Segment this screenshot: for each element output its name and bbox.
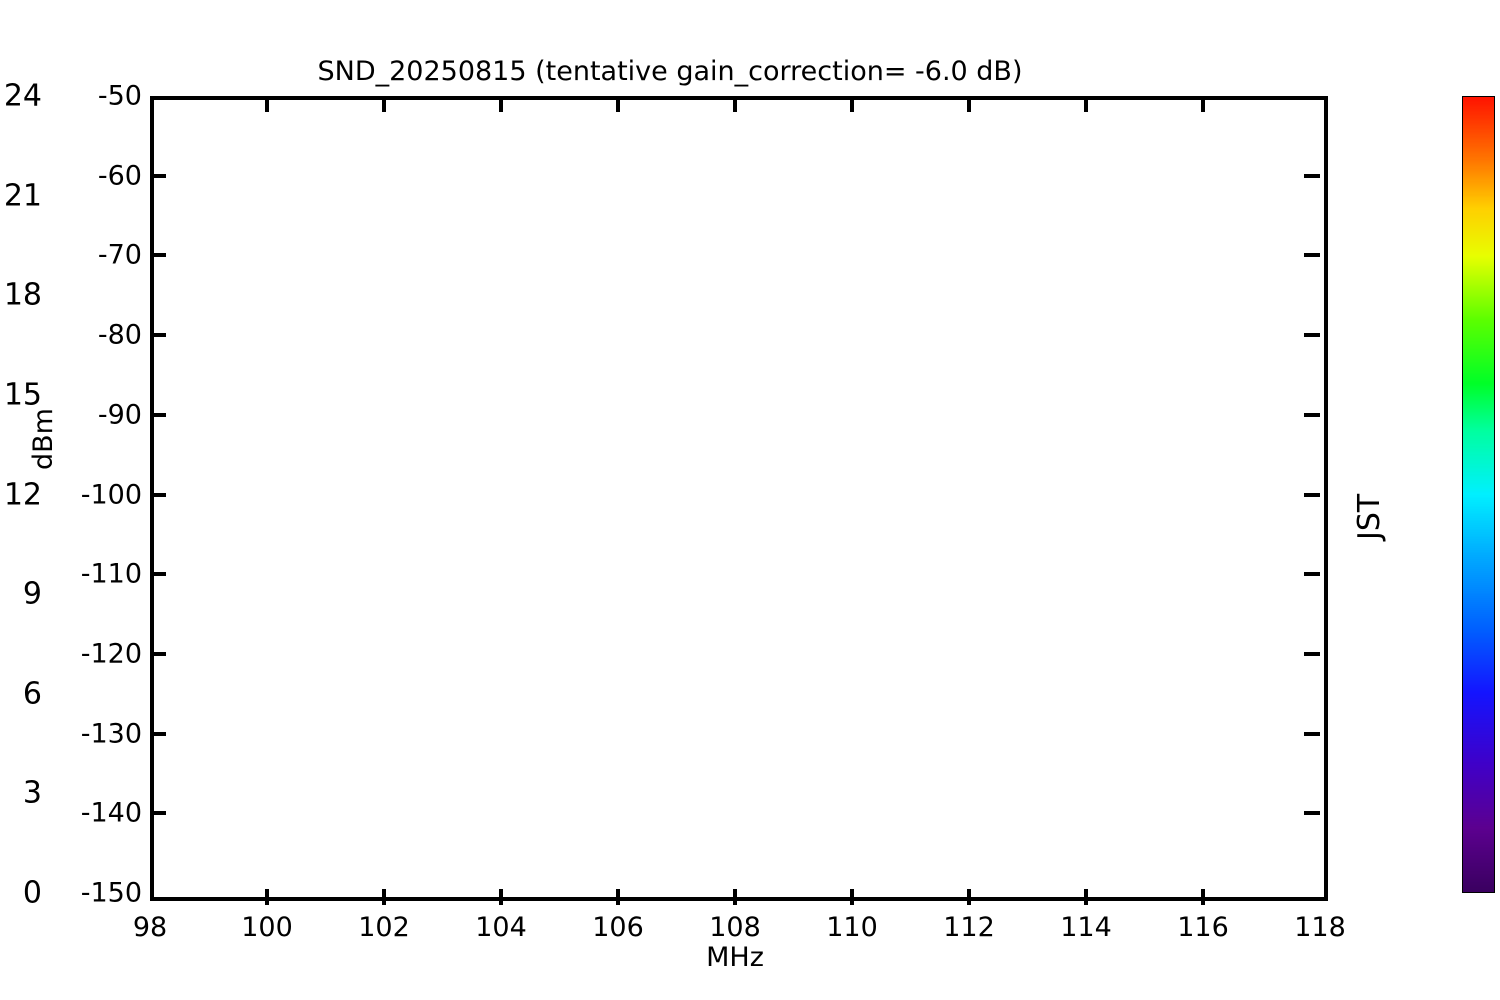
x-tick-label: 116 <box>1177 912 1229 943</box>
x-tick-bottom <box>733 889 737 905</box>
y-tick-label: -90 <box>98 399 142 430</box>
y-tick-left <box>150 572 166 576</box>
x-tick-top <box>1201 96 1205 112</box>
x-tick-label: 110 <box>826 912 878 943</box>
x-tick-label: 108 <box>709 912 761 943</box>
x-tick-label: 100 <box>241 912 293 943</box>
y-tick-left <box>150 493 166 497</box>
y-tick-label: -60 <box>98 160 142 191</box>
colorbar-tick-label: 15 <box>0 377 42 412</box>
x-tick-label: 118 <box>1294 912 1346 943</box>
x-tick-bottom <box>967 889 971 905</box>
page-title: SND_20250815 (tentative gain_correction=… <box>0 56 1340 87</box>
y-tick-label: -120 <box>81 638 142 669</box>
y-tick-label: -100 <box>81 479 142 510</box>
x-tick-bottom <box>1084 889 1088 905</box>
y-tick-label: -80 <box>98 320 142 351</box>
y-tick-label: -50 <box>98 81 142 112</box>
y-tick-label: -130 <box>81 718 142 749</box>
y-tick-right <box>1304 174 1320 178</box>
y-tick-label: -110 <box>81 559 142 590</box>
y-tick-right <box>1304 811 1320 815</box>
colorbar-tick-label: 3 <box>0 776 42 811</box>
x-tick-label: 106 <box>592 912 644 943</box>
y-tick-label: -150 <box>81 878 142 909</box>
y-tick-right <box>1304 333 1320 337</box>
colorbar-tick-label: 12 <box>0 477 42 512</box>
colorbar <box>1462 96 1495 893</box>
y-tick-label: -70 <box>98 240 142 271</box>
y-tick-right <box>1304 413 1320 417</box>
y-tick-right <box>1304 493 1320 497</box>
y-tick-label: -140 <box>81 798 142 829</box>
y-axis-title: dBm <box>28 408 59 470</box>
y-tick-left <box>150 811 166 815</box>
x-tick-top <box>733 96 737 112</box>
x-tick-label: 112 <box>943 912 995 943</box>
colorbar-gradient <box>1462 96 1495 893</box>
x-tick-top <box>1084 96 1088 112</box>
y-tick-left <box>150 253 166 257</box>
x-tick-top <box>967 96 971 112</box>
x-tick-label: 98 <box>133 912 167 943</box>
x-tick-bottom <box>382 889 386 905</box>
x-axis-title: MHz <box>0 942 1470 973</box>
colorbar-tick-label: 6 <box>0 676 42 711</box>
y-tick-right <box>1304 572 1320 576</box>
x-tick-top <box>382 96 386 112</box>
y-tick-left <box>150 652 166 656</box>
x-tick-label: 114 <box>1060 912 1112 943</box>
colorbar-tick-label: 18 <box>0 278 42 313</box>
colorbar-title: JST <box>1352 494 1387 540</box>
chart-page: SND_20250815 (tentative gain_correction=… <box>0 0 1500 1000</box>
x-tick-bottom <box>616 889 620 905</box>
x-tick-top <box>499 96 503 112</box>
y-tick-left <box>150 732 166 736</box>
x-tick-bottom <box>850 889 854 905</box>
plot-frame <box>150 96 1328 901</box>
y-tick-right <box>1304 732 1320 736</box>
x-tick-top <box>616 96 620 112</box>
x-tick-label: 102 <box>358 912 410 943</box>
colorbar-tick-label: 0 <box>0 876 42 911</box>
colorbar-tick-label: 9 <box>0 577 42 612</box>
y-tick-right <box>1304 652 1320 656</box>
x-tick-top <box>850 96 854 112</box>
x-tick-bottom <box>499 889 503 905</box>
y-tick-left <box>150 174 166 178</box>
colorbar-tick-label: 21 <box>0 178 42 213</box>
y-tick-left <box>150 413 166 417</box>
x-tick-bottom <box>1201 889 1205 905</box>
colorbar-tick-label: 24 <box>0 79 42 114</box>
x-tick-label: 104 <box>475 912 527 943</box>
x-tick-top <box>265 96 269 112</box>
y-tick-right <box>1304 253 1320 257</box>
x-tick-bottom <box>265 889 269 905</box>
y-tick-left <box>150 333 166 337</box>
